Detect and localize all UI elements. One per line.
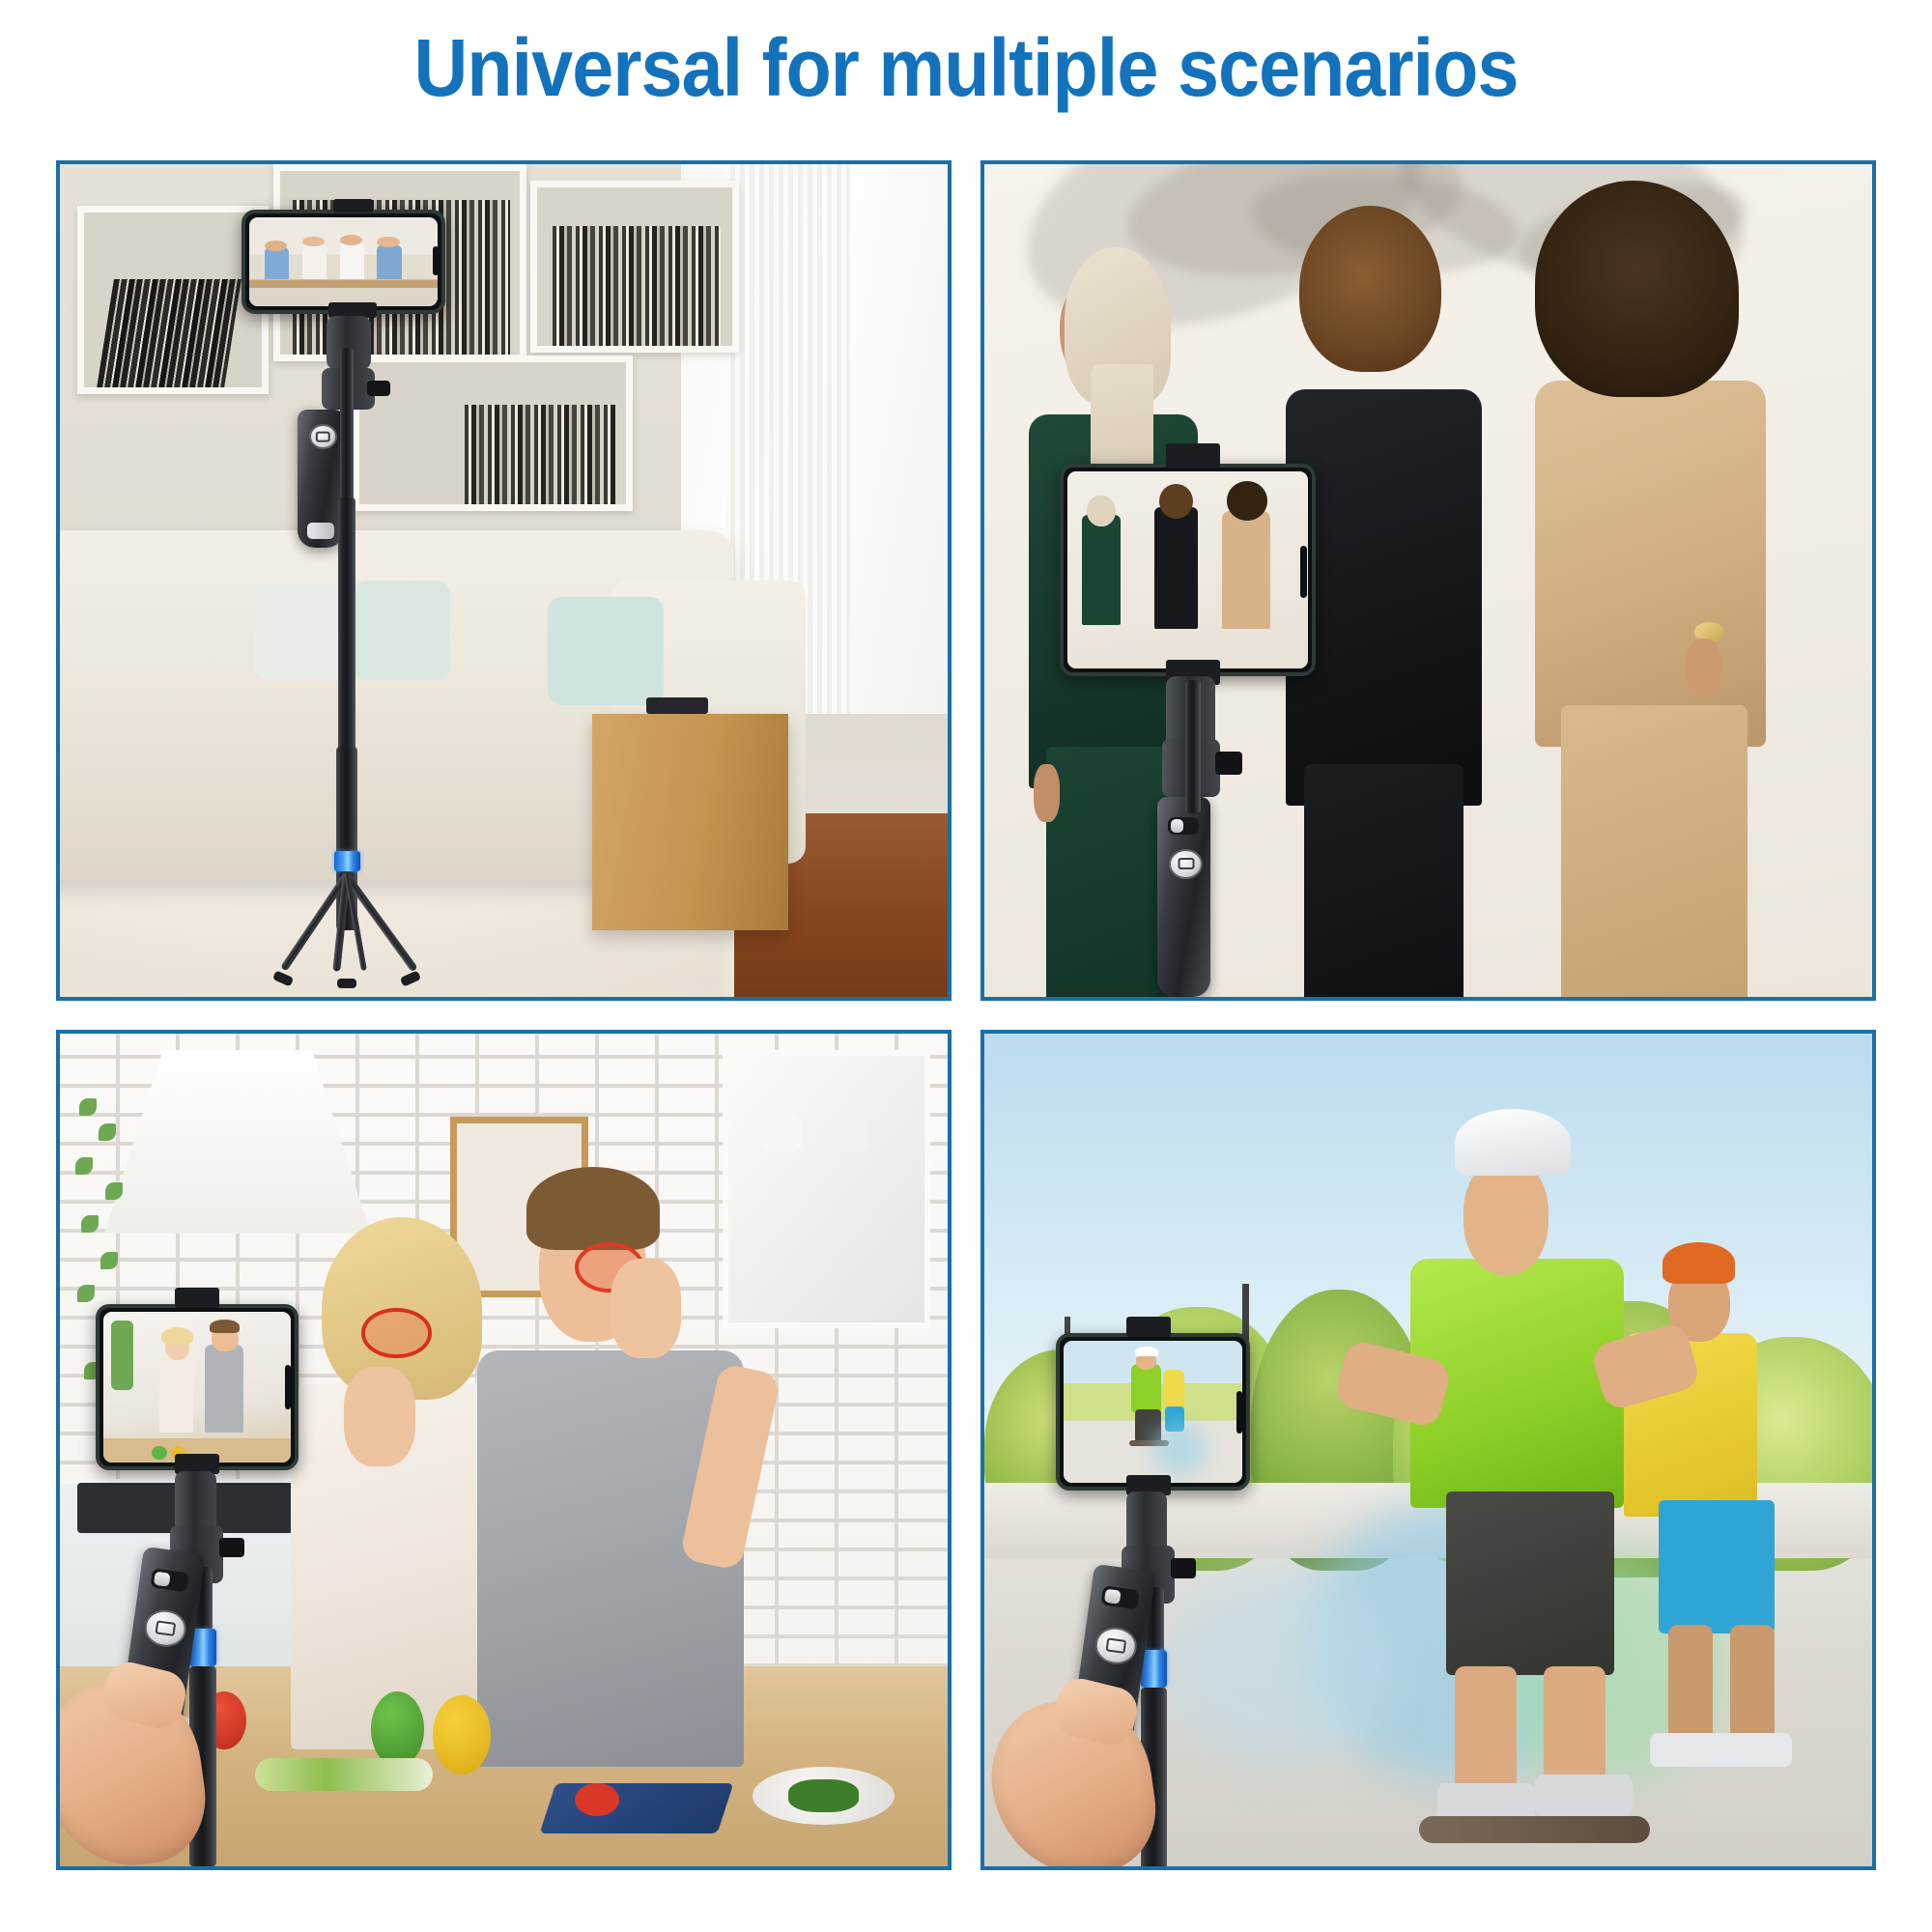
mode-slider-switch[interactable] [1168, 817, 1199, 836]
skate-park-scene [984, 1034, 1872, 1866]
product-handheld-selfie-stick [984, 1034, 1872, 1866]
scenario-grid [56, 160, 1876, 1870]
panel-living-room [56, 160, 952, 1001]
living-room-scene [60, 164, 948, 997]
mounted-phone [1060, 464, 1316, 675]
mode-slider-switch[interactable] [1100, 1585, 1140, 1610]
locking-knob [367, 381, 390, 396]
panel-skate-park [980, 1030, 1876, 1870]
mounted-phone [96, 1304, 298, 1470]
product-handheld-gimbal [984, 164, 1872, 997]
pole-mid [338, 497, 355, 772]
phone-notch [285, 1365, 291, 1409]
phone-screen [249, 217, 437, 305]
fashion-models-scene [984, 164, 1872, 997]
shutter-button [309, 424, 337, 450]
mode-slider-switch[interactable] [150, 1568, 189, 1593]
phone-clamp-top [175, 1288, 219, 1308]
phone-notch [1236, 1391, 1242, 1433]
tripod-foot [400, 970, 422, 987]
locking-knob [1171, 1558, 1196, 1578]
blue-accent-ring [1141, 1650, 1168, 1688]
blue-accent-ring [334, 851, 360, 871]
remote-indicator [307, 523, 335, 539]
locking-knob [219, 1538, 244, 1558]
product-feature-graphic: Universal for multiple scenarios [0, 0, 1932, 1932]
pole-upper [1185, 680, 1202, 813]
tripod-foot [271, 970, 294, 987]
panel-kitchen-couple [56, 1030, 952, 1870]
phone-screen [1067, 471, 1308, 668]
locking-knob [1215, 752, 1242, 775]
phone-screen [1064, 1341, 1242, 1483]
kitchen-scene [60, 1034, 948, 1866]
shutter-button[interactable] [142, 1607, 189, 1649]
phone-notch [433, 246, 439, 275]
page-title: Universal for multiple scenarios [77, 21, 1855, 115]
product-tripod-stand [60, 164, 948, 997]
panel-fashion-models [980, 160, 1876, 1001]
shutter-button[interactable] [1169, 849, 1203, 879]
shutter-button[interactable] [1093, 1625, 1140, 1666]
phone-notch [1300, 546, 1307, 599]
tripod-foot [337, 979, 356, 988]
phone-clamp-top [333, 199, 373, 213]
phone-screen [103, 1312, 291, 1463]
detachable-remote [298, 410, 344, 547]
phone-clamp-top [1166, 443, 1219, 469]
product-handheld-selfie-stick [60, 1034, 948, 1866]
phone-clamp-top [1126, 1317, 1171, 1337]
detachable-remote [1157, 797, 1210, 997]
mounted-phone [1056, 1333, 1250, 1491]
mounted-phone [241, 210, 444, 313]
pole-upper [340, 348, 354, 523]
